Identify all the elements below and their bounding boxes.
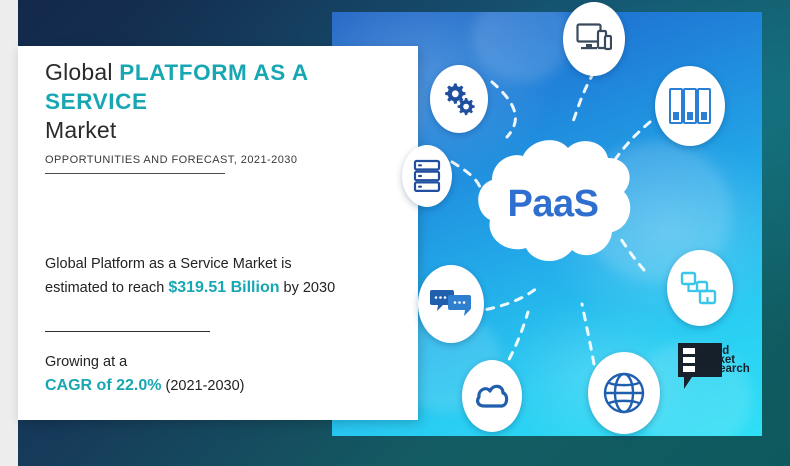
cloud-label: PaaS bbox=[468, 183, 638, 226]
market-value-statement: Global Platform as a Service Market is e… bbox=[45, 253, 355, 300]
logo-line-3: Research bbox=[698, 363, 750, 375]
server-rack-icon bbox=[413, 159, 441, 193]
cloud-icon bbox=[474, 382, 510, 410]
report-subtitle: OPPORTUNITIES AND FORECAST, 2021-2030 bbox=[45, 154, 395, 166]
cagr-lead-text: Growing at a bbox=[45, 354, 127, 370]
badge-gears bbox=[430, 65, 488, 133]
page-title: Global PLATFORM AS A SERVICE Market bbox=[45, 58, 395, 145]
badge-monitor-devices bbox=[563, 2, 625, 76]
headline-block: Global PLATFORM AS A SERVICE Market OPPO… bbox=[45, 58, 395, 174]
badge-server-rack bbox=[402, 145, 452, 207]
badge-globe bbox=[588, 352, 660, 434]
allied-market-research-logo: Allied Market Research bbox=[676, 341, 764, 395]
badge-chat-bubbles bbox=[418, 265, 484, 343]
market-tail-text: by 2030 bbox=[280, 280, 336, 296]
section-divider bbox=[45, 331, 210, 332]
subtitle-rule bbox=[45, 173, 225, 174]
headline-suffix: Market bbox=[45, 117, 117, 143]
cagr-value: CAGR of 22.0% bbox=[45, 377, 161, 394]
headline-prefix: Global bbox=[45, 59, 119, 85]
network-nodes-icon bbox=[680, 269, 720, 307]
badge-server-panels bbox=[655, 66, 725, 146]
monitor-devices-icon bbox=[576, 22, 612, 56]
badge-network-nodes bbox=[667, 250, 733, 326]
globe-icon bbox=[602, 371, 646, 415]
gears-icon bbox=[441, 82, 477, 116]
chat-bubbles-icon bbox=[430, 287, 472, 321]
infographic-canvas: PaaS bbox=[0, 0, 790, 466]
server-panels-icon bbox=[668, 86, 712, 126]
badge-cloud bbox=[462, 360, 522, 432]
cagr-statement: Growing at a CAGR of 22.0% (2021-2030) bbox=[45, 351, 345, 398]
market-value: $319.51 Billion bbox=[168, 279, 279, 296]
cagr-period: (2021-2030) bbox=[161, 378, 244, 394]
